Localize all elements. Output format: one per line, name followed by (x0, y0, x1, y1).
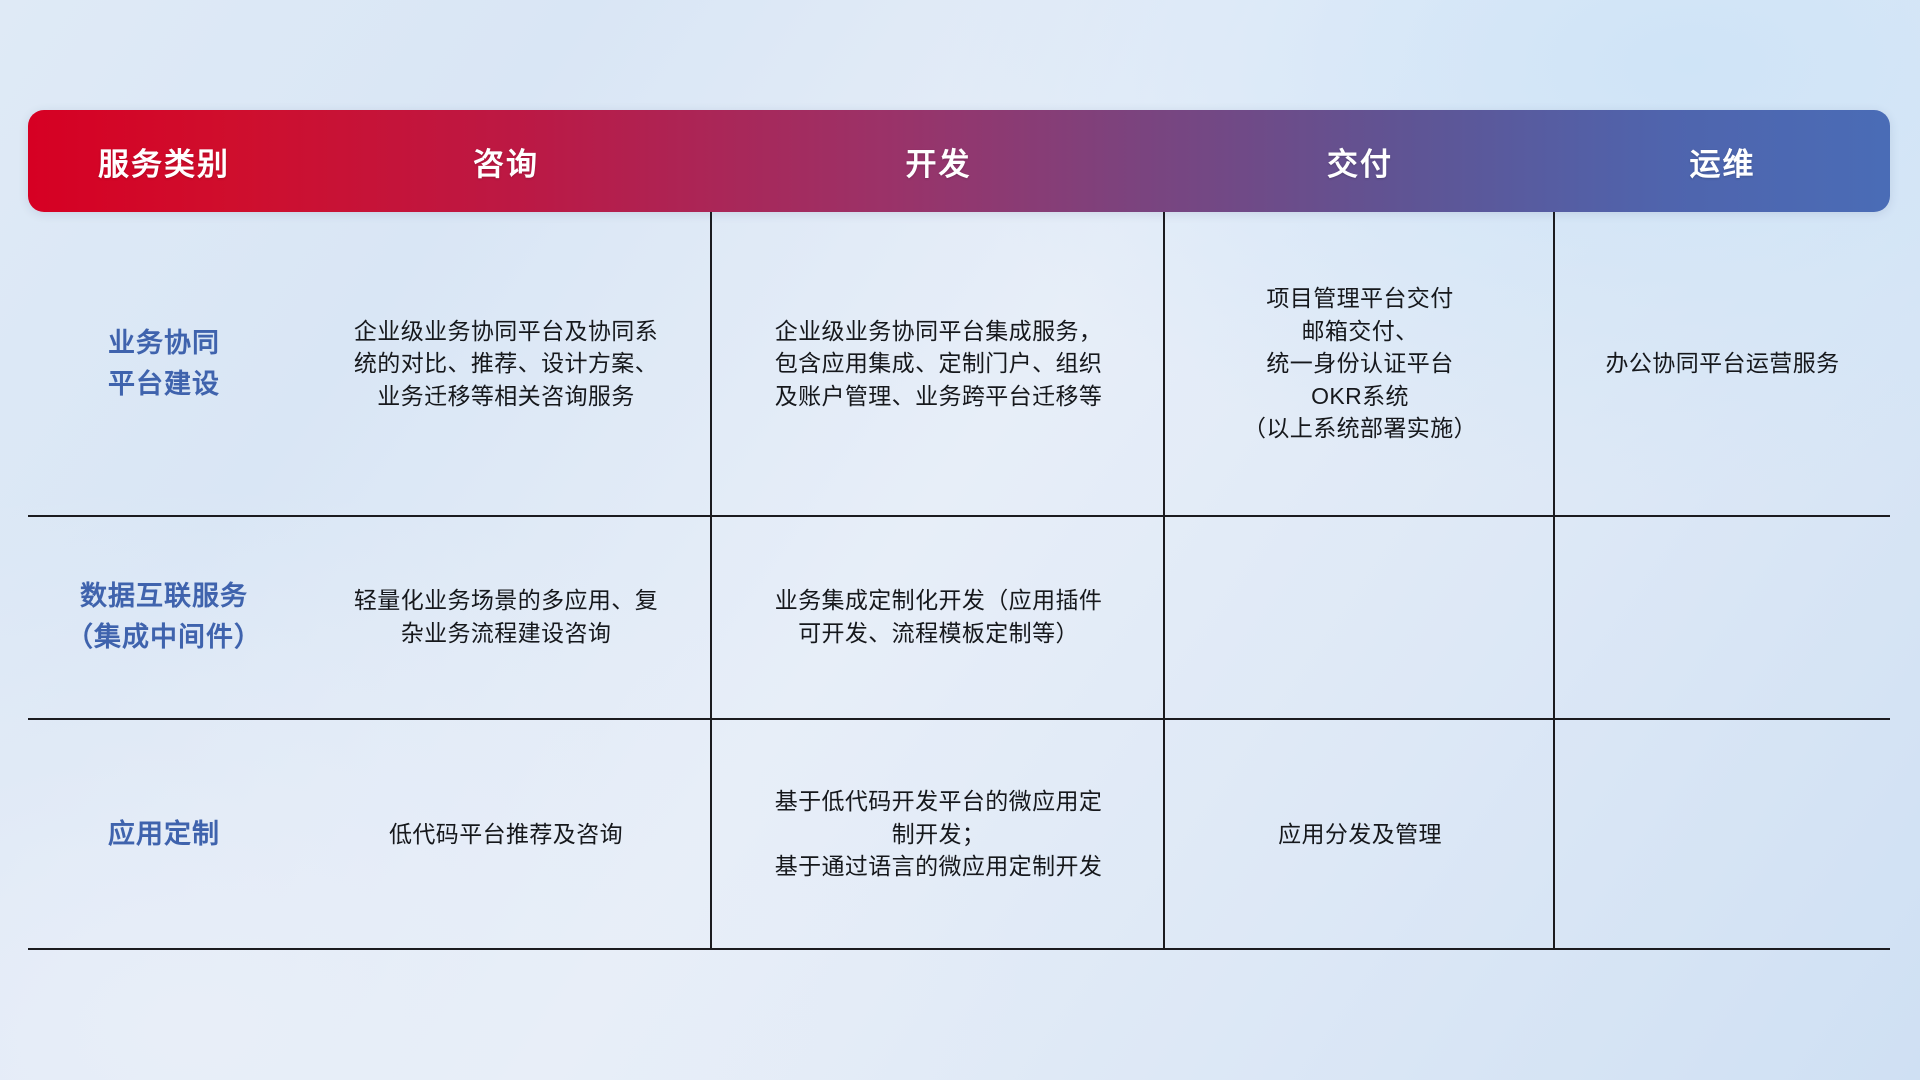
column-header-consulting: 咨询 (300, 110, 712, 212)
cell-development: 业务集成定制化开发（应用插件 可开发、流程模板定制等） (712, 515, 1165, 718)
row-category-label: 应用定制 (28, 718, 300, 950)
cell-delivery: 应用分发及管理 (1165, 718, 1555, 950)
cell-consulting: 企业级业务协同平台及协同系 统的对比、推荐、设计方案、 业务迁移等相关咨询服务 (300, 212, 712, 515)
cell-operations (1555, 515, 1890, 718)
table-row: 应用定制 低代码平台推荐及咨询 基于低代码开发平台的微应用定 制开发； 基于通过… (28, 718, 1890, 950)
cell-operations: 办公协同平台运营服务 (1555, 212, 1890, 515)
cell-consulting: 低代码平台推荐及咨询 (300, 718, 712, 950)
table-header-row: 服务类别 咨询 开发 交付 运维 (28, 110, 1890, 212)
cell-operations (1555, 718, 1890, 950)
column-header-development: 开发 (712, 110, 1165, 212)
cell-consulting: 轻量化业务场景的多应用、复 杂业务流程建设咨询 (300, 515, 712, 718)
column-header-category: 服务类别 (28, 110, 300, 212)
table-row: 业务协同 平台建设 企业级业务协同平台及协同系 统的对比、推荐、设计方案、 业务… (28, 212, 1890, 515)
row-category-label: 业务协同 平台建设 (28, 212, 300, 515)
column-header-delivery: 交付 (1165, 110, 1555, 212)
table-body: 业务协同 平台建设 企业级业务协同平台及协同系 统的对比、推荐、设计方案、 业务… (28, 212, 1890, 950)
cell-delivery: 项目管理平台交付 邮箱交付、 统一身份认证平台 OKR系统 （以上系统部署实施） (1165, 212, 1555, 515)
cell-delivery (1165, 515, 1555, 718)
cell-development: 基于低代码开发平台的微应用定 制开发； 基于通过语言的微应用定制开发 (712, 718, 1165, 950)
service-matrix-table: 服务类别 咨询 开发 交付 运维 业务协同 平台建设 企业级业务协同平台及协同系… (28, 110, 1890, 950)
cell-development: 企业级业务协同平台集成服务， 包含应用集成、定制门户、组织 及账户管理、业务跨平… (712, 212, 1165, 515)
column-header-operations: 运维 (1555, 110, 1890, 212)
slide-canvas: 服务类别 咨询 开发 交付 运维 业务协同 平台建设 企业级业务协同平台及协同系… (0, 0, 1920, 1080)
row-category-label: 数据互联服务 （集成中间件） (28, 515, 300, 718)
table-row: 数据互联服务 （集成中间件） 轻量化业务场景的多应用、复 杂业务流程建设咨询 业… (28, 515, 1890, 718)
